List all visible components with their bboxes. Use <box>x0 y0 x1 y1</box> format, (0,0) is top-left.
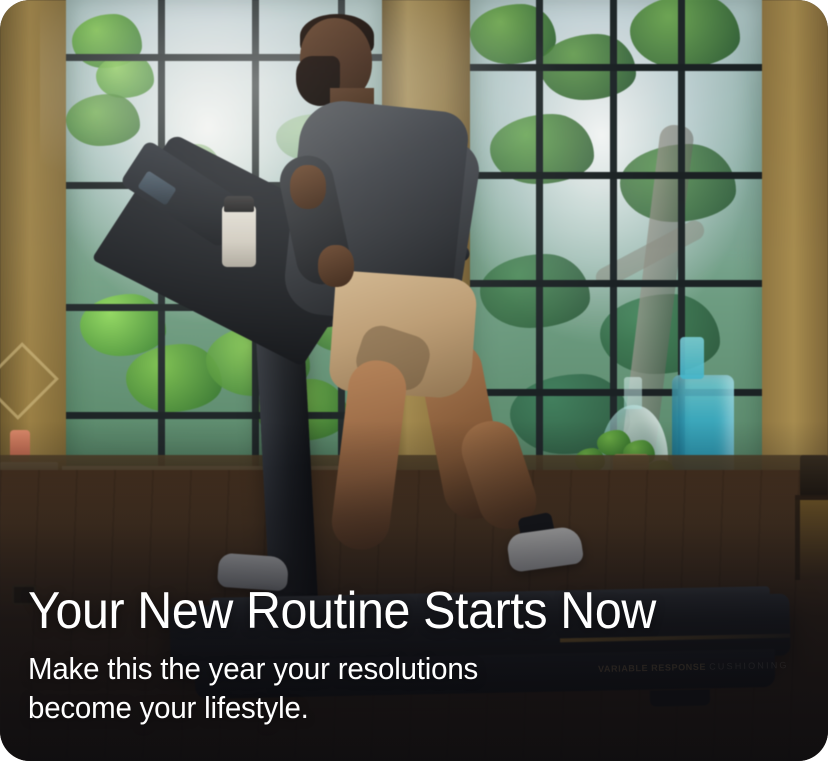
subtitle-line-2: become your lifestyle. <box>28 690 309 725</box>
speaker-box <box>800 455 828 497</box>
window-mullion <box>470 64 762 71</box>
window-mullion <box>470 280 762 287</box>
window-mullion <box>470 172 762 179</box>
chair <box>795 495 828 580</box>
runner-lower-hand <box>318 245 354 287</box>
subtitle-line-1: Make this the year your resolutions <box>28 651 478 686</box>
page-title: Your New Routine Starts Now <box>28 585 746 638</box>
hero-copy-block: Your New Routine Starts Now Make this th… <box>28 585 800 727</box>
wall-pier-right <box>760 0 828 520</box>
water-bottle-cap <box>224 196 254 212</box>
runner-front-hand <box>290 165 326 209</box>
window-mullion <box>66 412 382 419</box>
hero-subtitle: Make this the year your resolutions beco… <box>28 649 761 727</box>
promo-hero-card[interactable]: VARIABLE RESPONSE CUSHIONING Your New Ro… <box>0 0 828 761</box>
window-mullion <box>536 0 543 500</box>
water-bottle <box>222 205 256 267</box>
